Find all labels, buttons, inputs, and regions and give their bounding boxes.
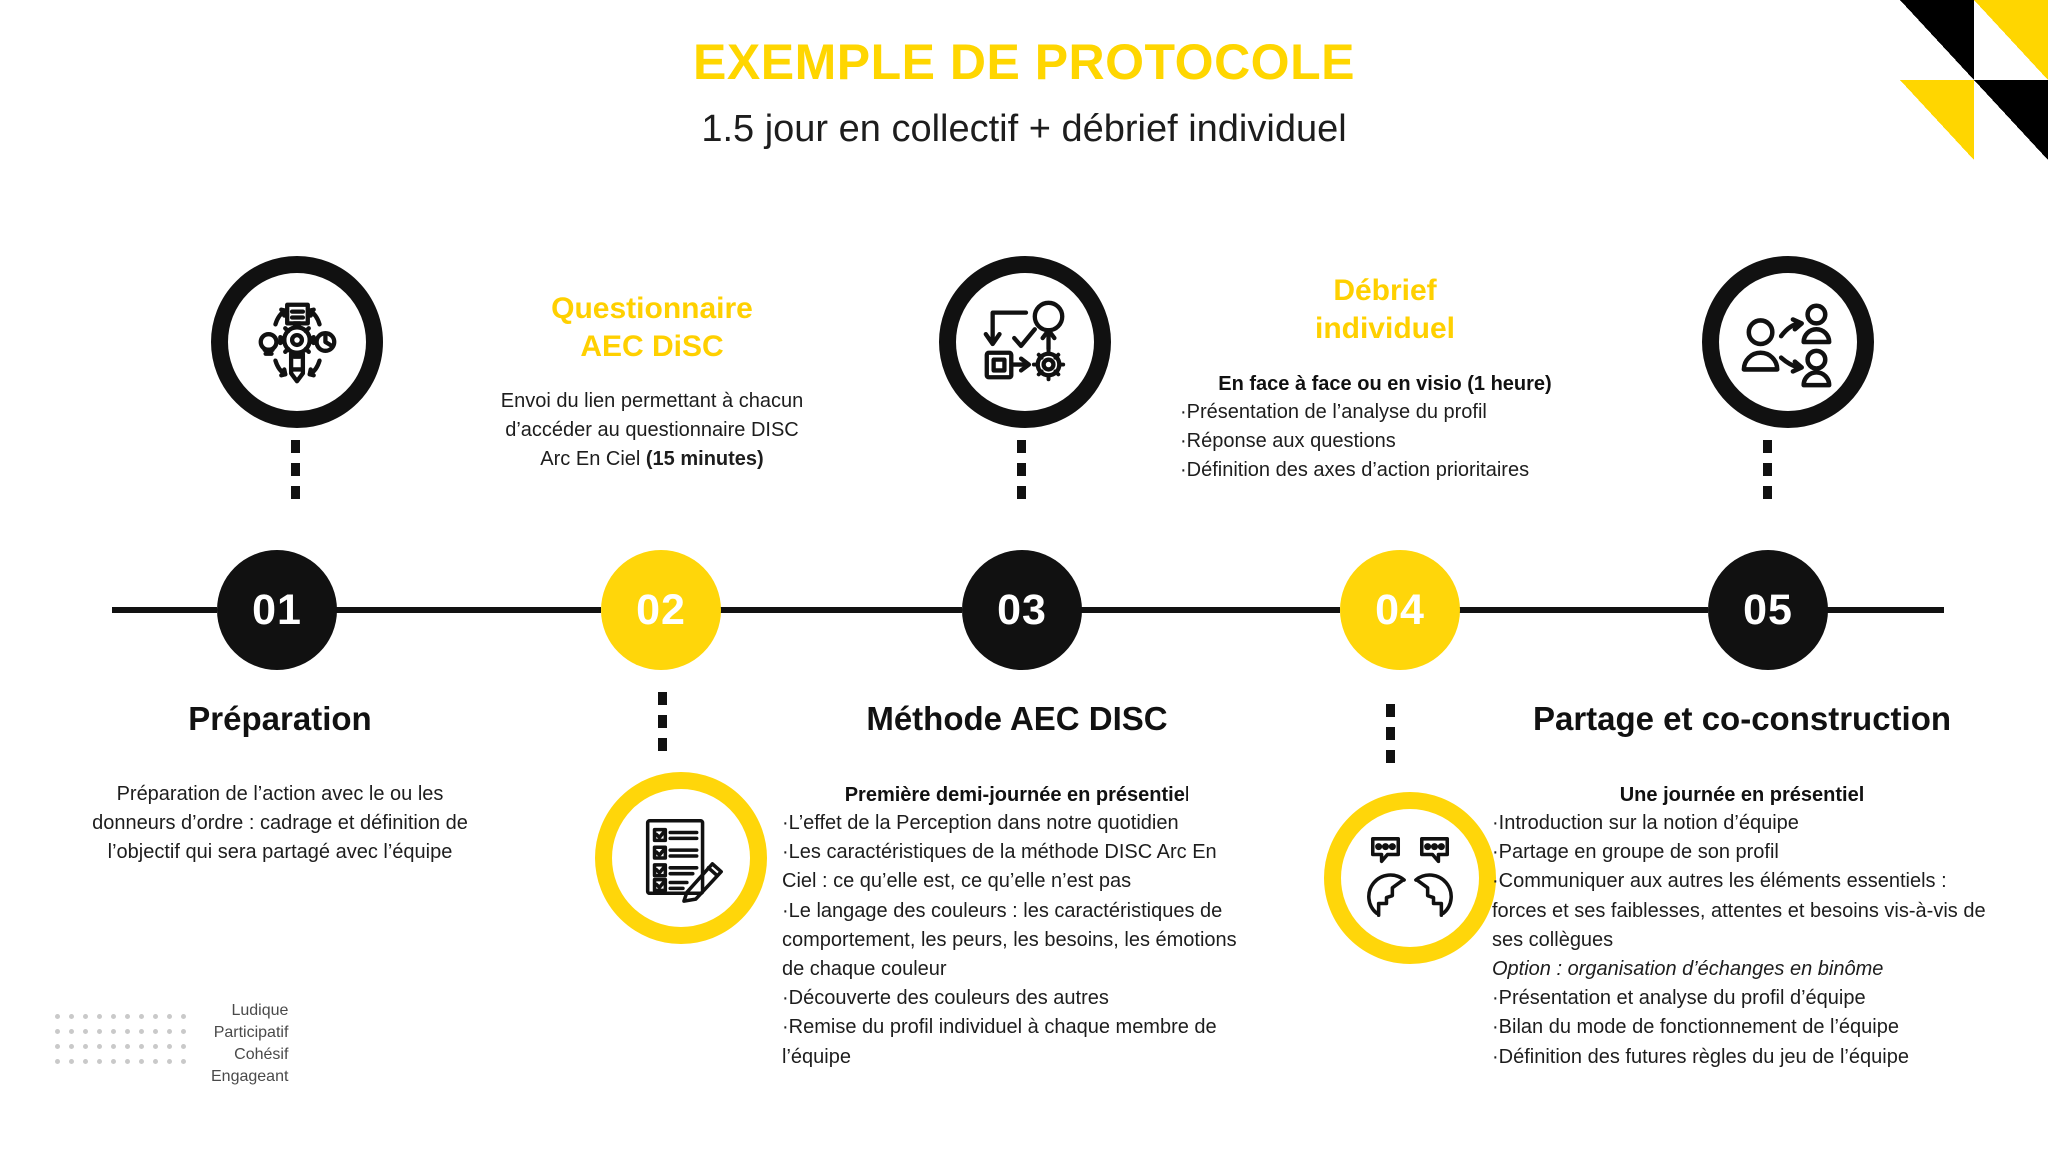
grid-dot [69, 1029, 74, 1034]
footer-keyword: Engageant [211, 1066, 288, 1088]
grid-dot [153, 1059, 158, 1064]
list-item: ·Bilan du mode de fonctionnement de l’éq… [1492, 1013, 1992, 1042]
grid-dot [83, 1044, 88, 1049]
process-flow-method-icon [976, 293, 1074, 391]
grid-dot [181, 1059, 186, 1064]
page-title: EXEMPLE DE PROTOCOLE [0, 34, 2048, 92]
footer-keyword: Ludique [211, 1000, 288, 1022]
grid-dot [55, 1014, 60, 1019]
list-item: ·Communiquer aux autres les éléments ess… [1492, 867, 1992, 955]
step-05-text-block: Partage et co-construction Une journée e… [1492, 700, 1992, 1072]
step-01-text-block: Préparation Préparation de l’action avec… [80, 700, 480, 868]
dotted-connector [1386, 704, 1395, 773]
list-item: ·Présentation de l’analyse du profil [1180, 398, 1590, 427]
grid-dot [55, 1044, 60, 1049]
header: EXEMPLE DE PROTOCOLE 1.5 jour en collect… [0, 34, 2048, 151]
grid-dot [167, 1059, 172, 1064]
step-03-title: Méthode AEC DISC [782, 700, 1252, 738]
grid-dot [97, 1014, 102, 1019]
step-05-title: Partage et co-construction [1492, 700, 1992, 738]
step-04-text-block: Débrief individuel En face à face ou en … [1180, 272, 1590, 486]
list-item: ·Définition des futures règles du jeu de… [1492, 1043, 1992, 1072]
grid-dot [167, 1029, 172, 1034]
grid-dot [97, 1059, 102, 1064]
list-item: ·Le langage des couleurs : les caractéri… [782, 897, 1252, 985]
grid-dot [83, 1029, 88, 1034]
step-04-heading: En face à face ou en visio (1 heure) [1180, 373, 1590, 396]
grid-dot [167, 1044, 172, 1049]
grid-dot [139, 1014, 144, 1019]
grid-dot [167, 1014, 172, 1019]
step-01-body: Préparation de l’action avec le ou les d… [80, 780, 480, 868]
checklist-questionnaire-icon [632, 809, 730, 907]
step-05-bullets: ·Introduction sur la notion d’équipe ·Pa… [1492, 809, 1992, 1072]
grid-dot [139, 1029, 144, 1034]
grid-dot [181, 1014, 186, 1019]
timeline-node-05[interactable]: 05 [1708, 550, 1828, 670]
dotted-connector [658, 692, 667, 761]
list-item: ·Remise du profil individuel à chaque me… [782, 1013, 1252, 1071]
grid-dot [139, 1059, 144, 1064]
icon-circle-method[interactable] [939, 256, 1111, 428]
grid-dot [153, 1029, 158, 1034]
two-people-conversation-icon [1361, 829, 1459, 927]
grid-dot [111, 1029, 116, 1034]
grid-dot [69, 1044, 74, 1049]
grid-dot [153, 1014, 158, 1019]
dotted-connector [291, 440, 300, 509]
dotted-connector [1763, 440, 1772, 509]
list-item: ·Définition des axes d’action prioritair… [1180, 456, 1590, 485]
step-04-bullets: ·Présentation de l’analyse du profil ·Ré… [1180, 398, 1590, 486]
list-item: ·Découverte des couleurs des autres [782, 984, 1252, 1013]
timeline-segment [112, 607, 217, 613]
list-item: ·Les caractéristiques de la méthode DISC… [782, 838, 1252, 896]
timeline-node-04[interactable]: 04 [1340, 550, 1460, 670]
grid-dot [125, 1014, 130, 1019]
grid-dot [83, 1014, 88, 1019]
page-subtitle: 1.5 jour en collectif + débrief individu… [0, 108, 2048, 151]
step-04-title: Débrief individuel [1180, 272, 1590, 347]
grid-dot [55, 1029, 60, 1034]
timeline-node-label: 02 [636, 586, 686, 635]
timeline-node-03[interactable]: 03 [962, 550, 1082, 670]
timeline-node-01[interactable]: 01 [217, 550, 337, 670]
grid-dot [111, 1014, 116, 1019]
list-item: ·Introduction sur la notion d’équipe [1492, 809, 1992, 838]
grid-dot [153, 1044, 158, 1049]
icon-circle-questionnaire[interactable] [595, 772, 767, 944]
grid-dot [111, 1044, 116, 1049]
step-01-title: Préparation [80, 700, 480, 738]
dot-grid-decoration [55, 1014, 195, 1074]
step-02-title: Questionnaire AEC DiSC [492, 290, 812, 365]
step-02-body: Envoi du lien permettant à chacun d’accé… [492, 387, 812, 475]
grid-dot [125, 1029, 130, 1034]
timeline-node-label: 03 [997, 586, 1047, 635]
step-03-heading: Première demi-journée en présentiel [782, 784, 1252, 807]
footer-keywords: Ludique Participatif Cohésif Engageant [211, 1000, 288, 1088]
footer-logo: Ludique Participatif Cohésif Engageant [55, 1000, 288, 1088]
grid-dot [69, 1014, 74, 1019]
icon-circle-preparation[interactable] [211, 256, 383, 428]
footer-keyword: Participatif [211, 1022, 288, 1044]
timeline-node-02[interactable]: 02 [601, 550, 721, 670]
step-03-bullets: ·L’effet de la Perception dans notre quo… [782, 809, 1252, 1072]
grid-dot [69, 1059, 74, 1064]
grid-dot [97, 1029, 102, 1034]
grid-dot [125, 1059, 130, 1064]
list-item: ·Présentation et analyse du profil d’équ… [1492, 984, 1992, 1013]
icon-circle-sharing[interactable] [1702, 256, 1874, 428]
timeline-node-label: 05 [1743, 586, 1793, 635]
icon-circle-debrief[interactable] [1324, 792, 1496, 964]
infographic-canvas: EXEMPLE DE PROTOCOLE 1.5 jour en collect… [0, 0, 2048, 1152]
step-05-heading: Une journée en présentiel [1492, 784, 1992, 807]
list-item: ·Partage en groupe de son profil [1492, 838, 1992, 867]
grid-dot [83, 1059, 88, 1064]
grid-dot [139, 1044, 144, 1049]
dotted-connector [1017, 440, 1026, 509]
grid-dot [97, 1044, 102, 1049]
grid-dot [111, 1059, 116, 1064]
step-05-option-line: Option : organisation d’échanges en binô… [1492, 955, 1992, 984]
timeline-node-label: 01 [252, 586, 302, 635]
preparation-planning-icon [248, 293, 346, 391]
grid-dot [55, 1059, 60, 1064]
timeline-node-label: 04 [1375, 586, 1425, 635]
grid-dot [125, 1044, 130, 1049]
step-03-text-block: Méthode AEC DISC Première demi-journée e… [782, 700, 1252, 1072]
step-02-text-block: Questionnaire AEC DiSC Envoi du lien per… [492, 290, 812, 475]
grid-dot [181, 1029, 186, 1034]
list-item: ·Réponse aux questions [1180, 427, 1590, 456]
grid-dot [181, 1044, 186, 1049]
team-sharing-people-icon [1739, 293, 1837, 391]
list-item: ·L’effet de la Perception dans notre quo… [782, 809, 1252, 838]
footer-keyword: Cohésif [211, 1044, 288, 1066]
